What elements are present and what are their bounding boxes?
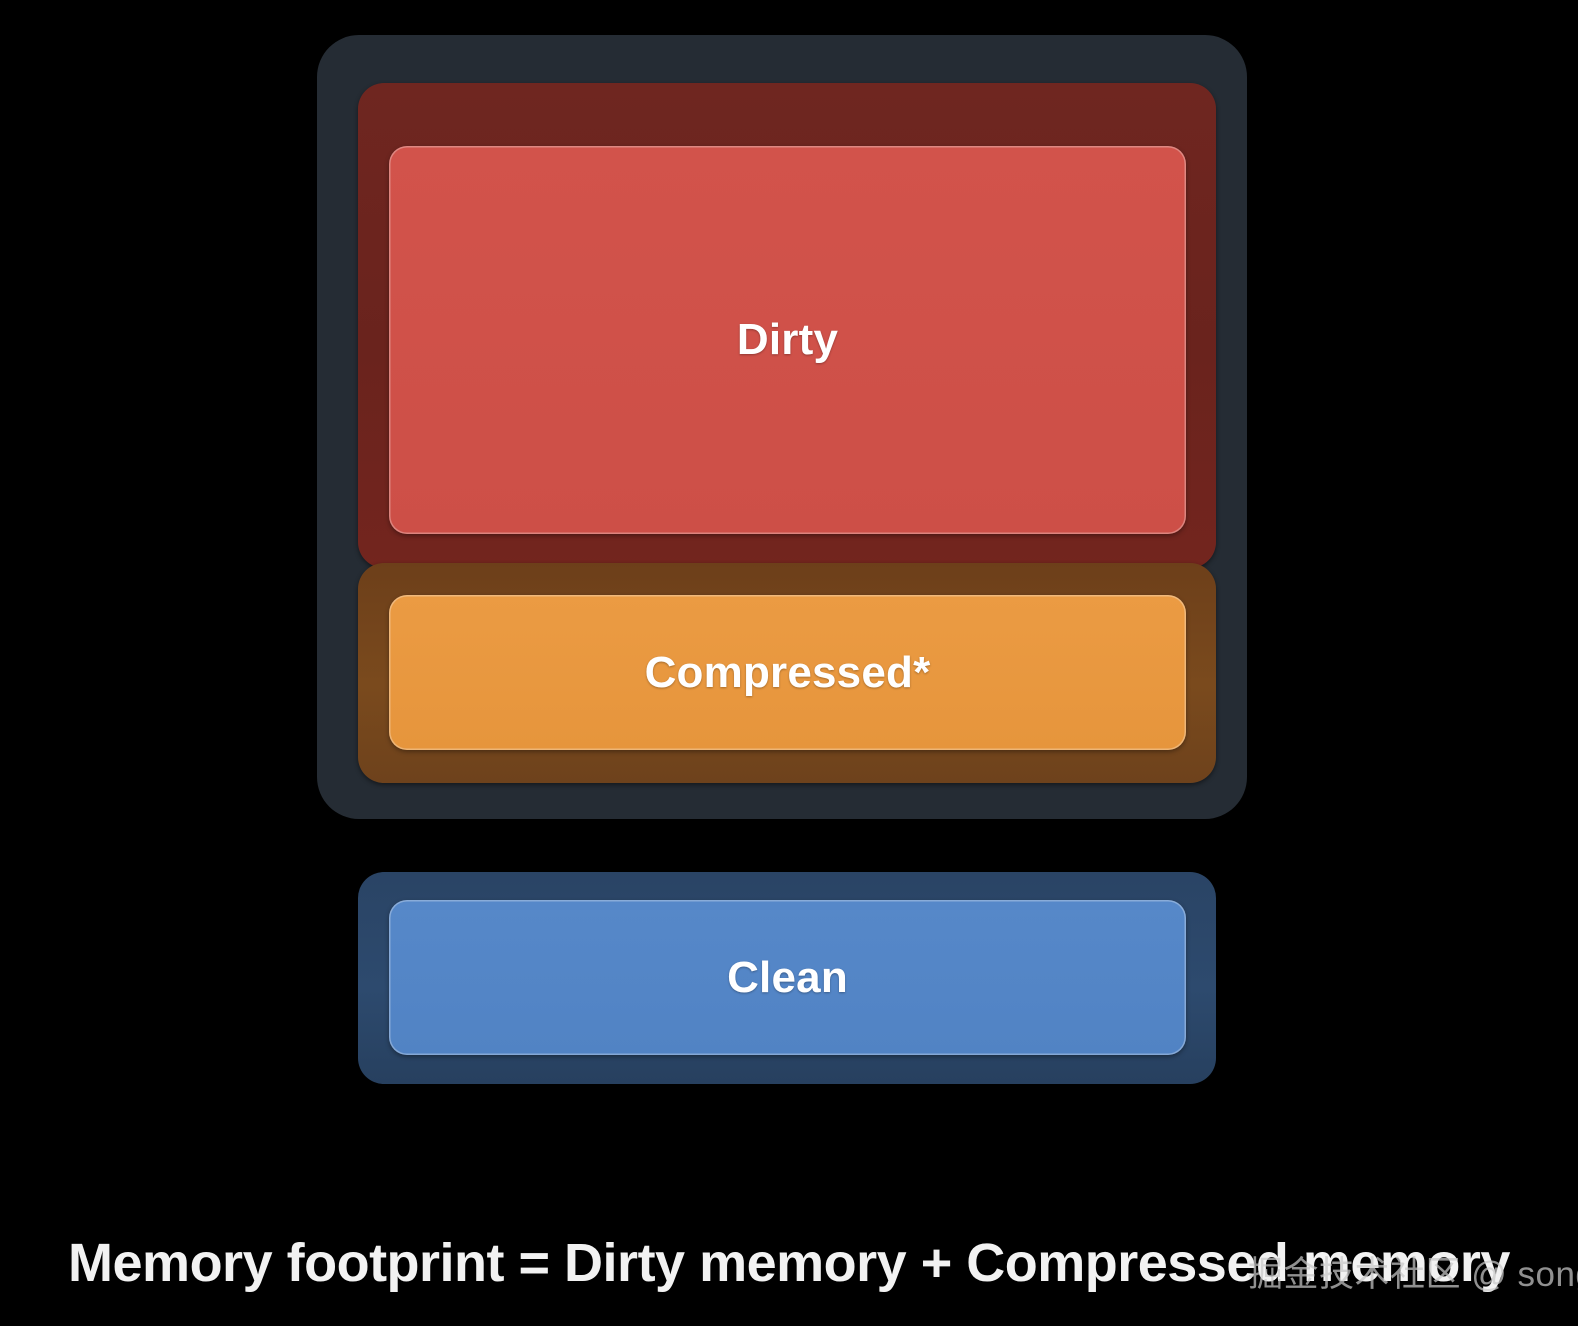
band-clean-label: Clean bbox=[727, 953, 848, 1003]
band-dirty-outer: Dirty bbox=[358, 83, 1216, 568]
band-clean-inner: Clean bbox=[389, 900, 1186, 1055]
band-clean-outer: Clean bbox=[358, 872, 1216, 1084]
band-compressed-inner: Compressed* bbox=[389, 595, 1186, 750]
footprint-formula-caption: Memory footprint = Dirty memory + Compre… bbox=[0, 1232, 1578, 1294]
band-compressed-outer: Compressed* bbox=[358, 563, 1216, 783]
memory-footprint-container: Dirty Compressed* bbox=[317, 35, 1247, 819]
band-dirty-inner: Dirty bbox=[389, 146, 1186, 534]
band-compressed-label: Compressed* bbox=[645, 648, 931, 698]
band-dirty-label: Dirty bbox=[737, 315, 838, 365]
diagram-canvas: Dirty Compressed* Clean Memory footprint… bbox=[0, 0, 1578, 1326]
